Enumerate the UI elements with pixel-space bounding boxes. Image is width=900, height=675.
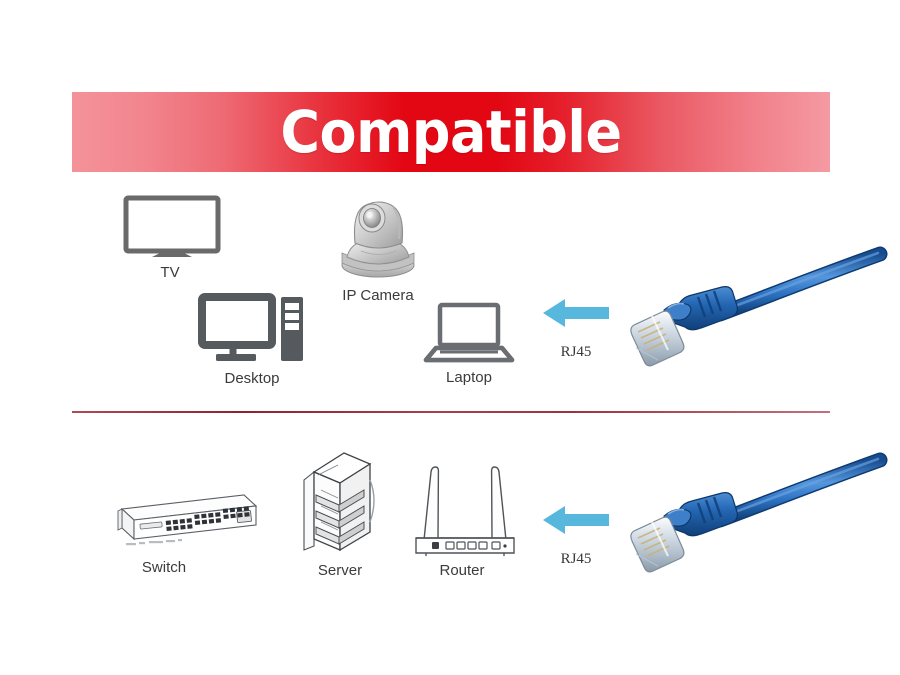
compatible-banner: Compatible	[72, 92, 830, 172]
rj45-connector-top: RJ45	[543, 296, 611, 366]
rj45-label-bottom: RJ45	[561, 551, 592, 568]
device-label-router: Router	[439, 562, 484, 579]
device-ip-camera: IP Camera	[331, 193, 426, 303]
device-label-laptop: Laptop	[446, 369, 492, 386]
network-switch-icon	[104, 489, 259, 549]
device-label-desktop: Desktop	[224, 370, 279, 387]
device-label-ip-camera: IP Camera	[342, 287, 413, 304]
left-arrow-icon	[543, 296, 611, 330]
ip-camera-icon	[331, 193, 426, 281]
rj45-cable-top	[628, 252, 898, 367]
router-icon	[410, 460, 520, 560]
device-desktop: Desktop	[200, 294, 305, 389]
device-label-switch: Switch	[142, 559, 186, 576]
rj45-label-top: RJ45	[561, 344, 592, 361]
rj45-cable-bottom	[628, 458, 898, 573]
device-tv: TV	[122, 196, 227, 286]
device-label-tv: TV	[160, 264, 179, 281]
device-server: Server	[298, 450, 383, 585]
device-label-server: Server	[318, 562, 362, 579]
rj45-connector-bottom: RJ45	[543, 503, 611, 573]
device-switch: Switch	[104, 489, 259, 584]
device-laptop: Laptop	[424, 303, 514, 391]
page-title: Compatible	[99, 92, 804, 172]
device-router: Router	[410, 460, 520, 585]
laptop-icon	[424, 303, 514, 363]
tv-icon	[122, 196, 227, 258]
compatibility-diagram: Compatible TV	[0, 0, 900, 675]
section-divider	[72, 411, 830, 413]
server-rack-icon	[298, 450, 383, 555]
left-arrow-icon	[543, 503, 611, 537]
desktop-computer-icon	[200, 294, 305, 364]
